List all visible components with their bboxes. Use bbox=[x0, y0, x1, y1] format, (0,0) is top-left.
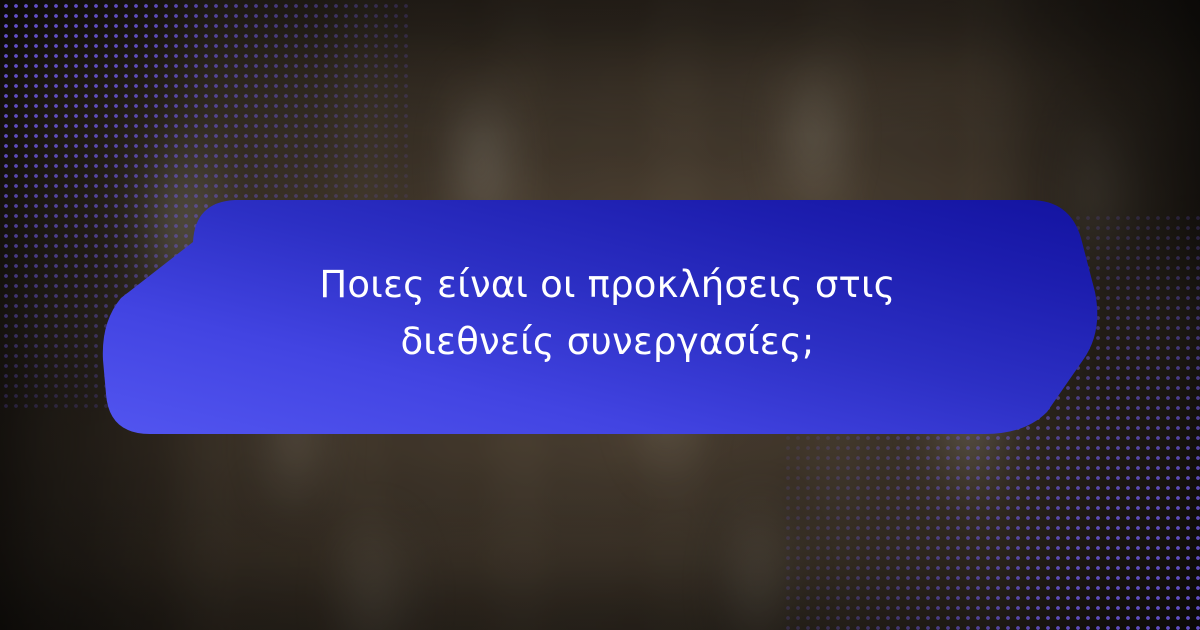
quote-text-container: Ποιες είναι οι προκλήσεις στις διεθνείς … bbox=[215, 190, 1000, 435]
quote-text: Ποιες είναι οι προκλήσεις στις διεθνείς … bbox=[263, 256, 953, 370]
social-share-card: Ποιες είναι οι προκλήσεις στις διεθνείς … bbox=[0, 0, 1200, 630]
quote-card: Ποιες είναι οι προκλήσεις στις διεθνείς … bbox=[95, 190, 1105, 435]
